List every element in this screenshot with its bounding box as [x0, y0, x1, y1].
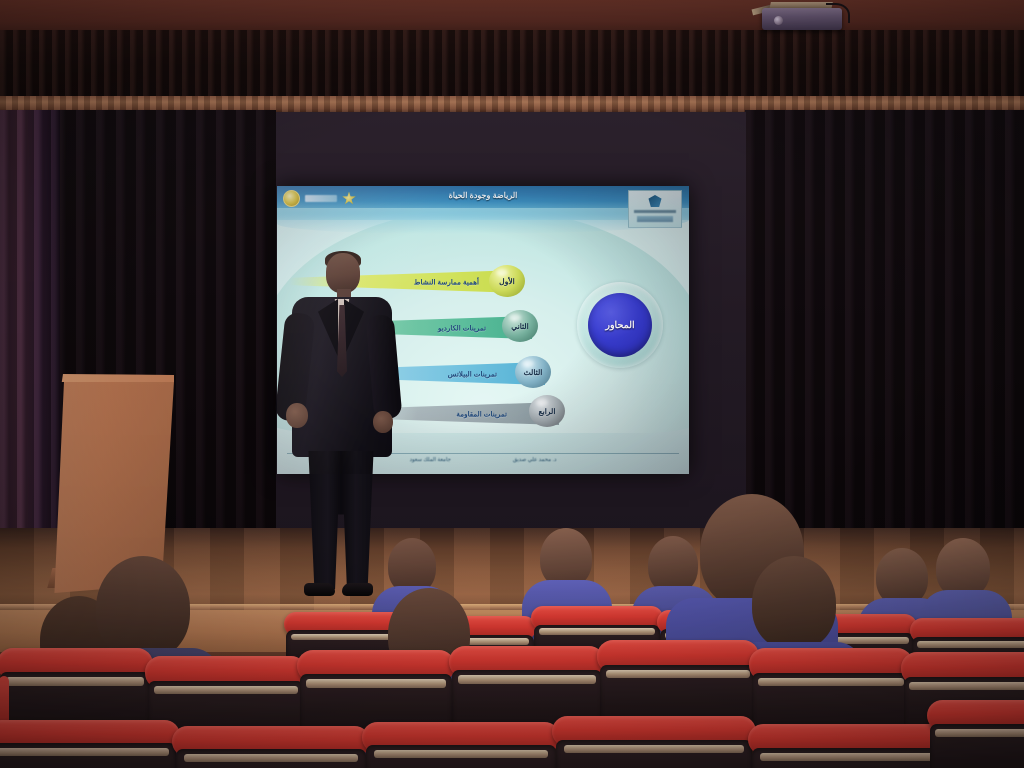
- bar-sphere: الأول: [489, 265, 525, 297]
- slide-hub-circle: المحاور: [577, 282, 663, 368]
- institution-logo-icon: [649, 195, 662, 207]
- theater-seat[interactable]: [176, 726, 366, 768]
- bar-label: أهمية ممارسة النشاط: [414, 277, 479, 286]
- institution-logo-text: [634, 210, 676, 213]
- bar-sphere: الرابع: [529, 395, 565, 427]
- seat-trim: [909, 682, 1024, 691]
- bar-label: تمرينات البيلاتس: [448, 369, 497, 378]
- seat-trim: [935, 729, 1024, 737]
- projector-cable: [826, 3, 850, 23]
- seat-trim: [760, 753, 940, 761]
- theater-seat[interactable]: [752, 724, 948, 768]
- hub-core: المحاور: [588, 293, 652, 357]
- slide-footer-right: د. محمد علي صديق: [513, 457, 557, 463]
- seat-trim: [154, 686, 298, 695]
- audience-head: [96, 556, 190, 660]
- institution-logo-block: [637, 216, 673, 222]
- projector-lens-icon: [774, 16, 783, 25]
- seat-trim: [306, 679, 446, 687]
- audience-head: [936, 538, 990, 598]
- lectern-top: [52, 374, 174, 382]
- hub-label: المحاور: [605, 320, 634, 331]
- logo-wordmark: [305, 195, 337, 202]
- curtain-valance: [0, 30, 1024, 102]
- seat-trim: [917, 641, 1024, 648]
- auditorium-scene: الرياضة وجودة الحياة أهمية ممارسة النشاط…: [0, 0, 1024, 768]
- presenter-trousers: [304, 451, 378, 589]
- bar-label: تمرينات المقاومة: [456, 409, 507, 418]
- seat-trim: [539, 628, 655, 634]
- seat-trim: [184, 754, 359, 762]
- audience-head: [752, 556, 836, 650]
- bar-sphere: الثاني: [502, 310, 538, 342]
- bar-sphere: الثالث: [515, 356, 551, 388]
- theater-seat[interactable]: [930, 700, 1024, 768]
- slide-logo-right: [628, 190, 682, 228]
- seat-trim: [6, 677, 144, 685]
- presenter-head: [326, 253, 360, 293]
- audience-head: [540, 528, 592, 588]
- seat-trim: [374, 750, 549, 758]
- presenter: [278, 253, 400, 618]
- presenter-hand-left: [286, 403, 308, 428]
- seat-trim: [0, 748, 169, 756]
- theater-seat[interactable]: [366, 722, 556, 768]
- slide-logos-left: [283, 190, 356, 207]
- star-logo-icon: [342, 192, 356, 206]
- seal-logo-icon: [283, 190, 300, 207]
- presenter-shoe-right: [342, 583, 373, 596]
- theater-seat[interactable]: [556, 716, 752, 768]
- slide-footer-left: جامعة الملك سعود: [410, 457, 451, 463]
- theater-seat[interactable]: [0, 720, 176, 768]
- seat-trim: [606, 670, 750, 679]
- presenter-shoe-left: [304, 583, 335, 596]
- seat-trim: [458, 675, 596, 683]
- seat-trim: [564, 745, 744, 753]
- ceiling-projector: [752, 2, 848, 32]
- presenter-hand-right: [373, 411, 393, 433]
- bar-label: تمرينات الكارديو: [438, 323, 486, 332]
- seat-trim: [758, 678, 903, 687]
